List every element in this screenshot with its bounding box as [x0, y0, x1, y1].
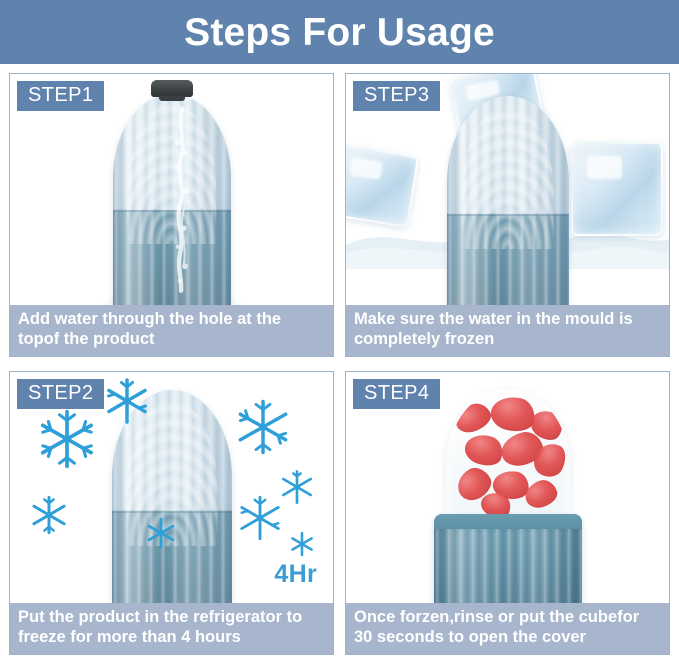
base-ribbing: [434, 529, 582, 603]
freeze-time-label: 4Hr: [274, 560, 317, 589]
water-stream-icon: [167, 107, 197, 293]
snowflake-icon-1: [36, 408, 98, 470]
rose-petal: [461, 430, 506, 470]
product-seam-line: [447, 214, 569, 216]
step-panel-1: STEP1: [9, 73, 334, 357]
snowflake-icon-3: [102, 376, 152, 426]
product-ice-mould-1: [113, 80, 231, 305]
product-base-holder: [434, 514, 582, 603]
step-caption-3: Make sure the water in the mould is comp…: [346, 305, 669, 356]
steps-grid: STEP1: [0, 64, 679, 663]
rose-petal: [451, 399, 494, 437]
step-3-artwork: STEP3: [346, 74, 669, 305]
step-caption-4: Once forzen,rinse or put the cubefor 30 …: [346, 603, 669, 654]
step-panel-4: STEP4: [345, 371, 670, 655]
snowflake-icon-5: [234, 398, 292, 456]
snowflake-icon-7: [236, 494, 284, 542]
ice-dome-with-petals: [446, 388, 570, 524]
step-panel-3: STEP3 Make: [345, 73, 670, 357]
product-seam-line: [112, 511, 232, 513]
snowflake-icon-4: [144, 516, 178, 550]
step-1-artwork: STEP1: [10, 74, 333, 305]
product-ice-mould-3: [447, 96, 569, 305]
header-banner: Steps For Usage: [0, 0, 679, 64]
snowflake-icon-2: [28, 494, 70, 536]
ice-cube-icon-left: [346, 144, 419, 228]
step-badge-2: STEP2: [17, 379, 104, 409]
infographic-root: Steps For Usage STEP1: [0, 0, 679, 663]
step-badge-4: STEP4: [353, 379, 440, 409]
page-title: Steps For Usage: [184, 13, 495, 52]
product-body: [113, 94, 231, 305]
step-panel-2: STEP2: [9, 371, 334, 655]
step-badge-3: STEP3: [353, 81, 440, 111]
step-badge-1: STEP1: [17, 81, 104, 111]
step-caption-2: Put the product in the refrigerator to f…: [10, 603, 333, 654]
step-4-artwork: STEP4: [346, 372, 669, 603]
base-lip: [434, 514, 582, 529]
product-body: [447, 96, 569, 305]
step-caption-1: Add water through the hole at the topof …: [10, 305, 333, 356]
product-cap-icon: [151, 80, 193, 97]
step-2-artwork: STEP2: [10, 372, 333, 603]
ice-cube-icon-right: [571, 142, 663, 236]
rose-petal: [487, 393, 537, 435]
snowflake-icon-8: [288, 530, 316, 558]
